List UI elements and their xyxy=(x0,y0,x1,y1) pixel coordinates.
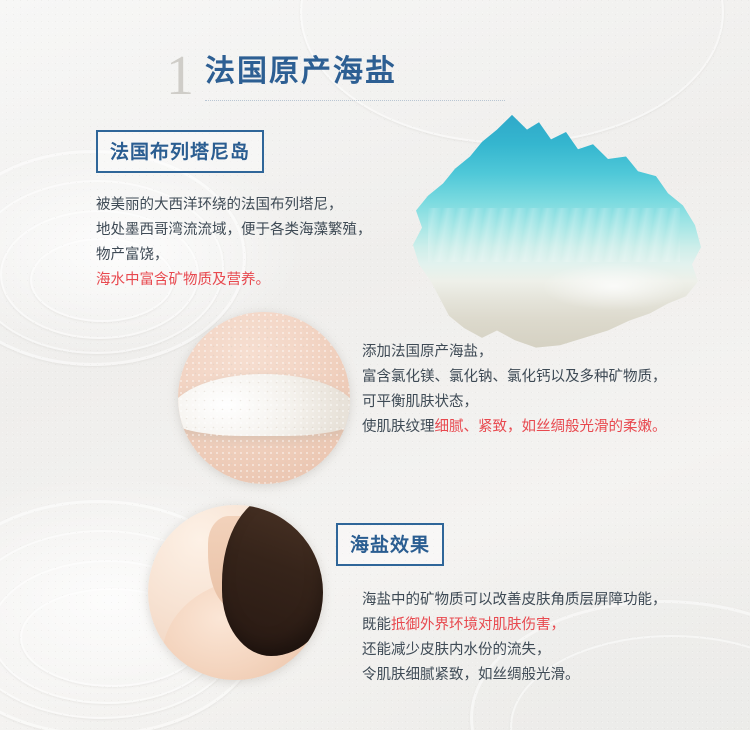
brittany-highlight-line: 海水中富含矿物质及营养。 xyxy=(96,268,372,293)
salt-line-4: 使肌肤纹理细腻、紧致，如丝绸般光滑的柔嫩。 xyxy=(362,415,667,440)
paragraph-effect: 海盐中的矿物质可以改善皮肤角质层屏障功能， 既能抵御外界环境对肌肤伤害， 还能减… xyxy=(362,588,667,688)
label-salt-effect: 海盐效果 xyxy=(336,523,444,566)
section-number: 1 xyxy=(166,48,194,104)
salt-line-2: 富含氯化镁、氯化钠、氯化钙以及多种矿物质， xyxy=(362,365,667,390)
paragraph-brittany: 被美丽的大西洋环绕的法国布列塔尼， 地处墨西哥湾流流域，便于各类海藻繁殖， 物产… xyxy=(96,193,372,293)
product-detail-page: 1 法国原产海盐 法国布列塔尼岛 被美丽的大西洋环绕的法国布列塔尼， 地处墨西哥… xyxy=(0,0,750,730)
sea-photo-fill xyxy=(404,110,704,355)
brittany-map-image xyxy=(404,110,704,355)
title-divider xyxy=(205,100,505,101)
salt-line-1: 添加法国原产海盐， xyxy=(362,340,667,365)
brittany-line-2: 地处墨西哥湾流流域，便于各类海藻繁殖， xyxy=(96,218,372,243)
effect-line-2-highlight: 抵御外界环境对肌肤伤害， xyxy=(391,617,565,633)
salt-line-3: 可平衡肌肤状态， xyxy=(362,390,667,415)
effect-line-4: 令肌肤细腻紧致，如丝绸般光滑。 xyxy=(362,663,667,688)
effect-line-2-prefix: 既能 xyxy=(362,617,391,633)
effect-line-3: 还能减少皮肤内水份的流失， xyxy=(362,638,667,663)
sea-salt-photo xyxy=(178,312,350,484)
label-brittany: 法国布列塔尼岛 xyxy=(96,130,264,173)
salt-grain-texture xyxy=(178,312,350,484)
paragraph-salt: 添加法国原产海盐， 富含氯化镁、氯化钠、氯化钙以及多种矿物质， 可平衡肌肤状态，… xyxy=(362,340,667,440)
salt-line-4-prefix: 使肌肤纹理 xyxy=(362,419,435,435)
brittany-line-1: 被美丽的大西洋环绕的法国布列塔尼， xyxy=(96,193,372,218)
effect-line-2: 既能抵御外界环境对肌肤伤害， xyxy=(362,613,667,638)
salt-line-4-highlight: 细腻、紧致，如丝绸般光滑的柔嫩。 xyxy=(435,419,667,435)
section-header: 1 法国原产海盐 xyxy=(0,28,750,98)
skin-photo xyxy=(148,505,323,680)
page-title: 法国原产海盐 xyxy=(205,53,397,91)
effect-line-1: 海盐中的矿物质可以改善皮肤角质层屏障功能， xyxy=(362,588,667,613)
brittany-line-3: 物产富饶， xyxy=(96,243,372,268)
hair-shape xyxy=(222,505,324,656)
